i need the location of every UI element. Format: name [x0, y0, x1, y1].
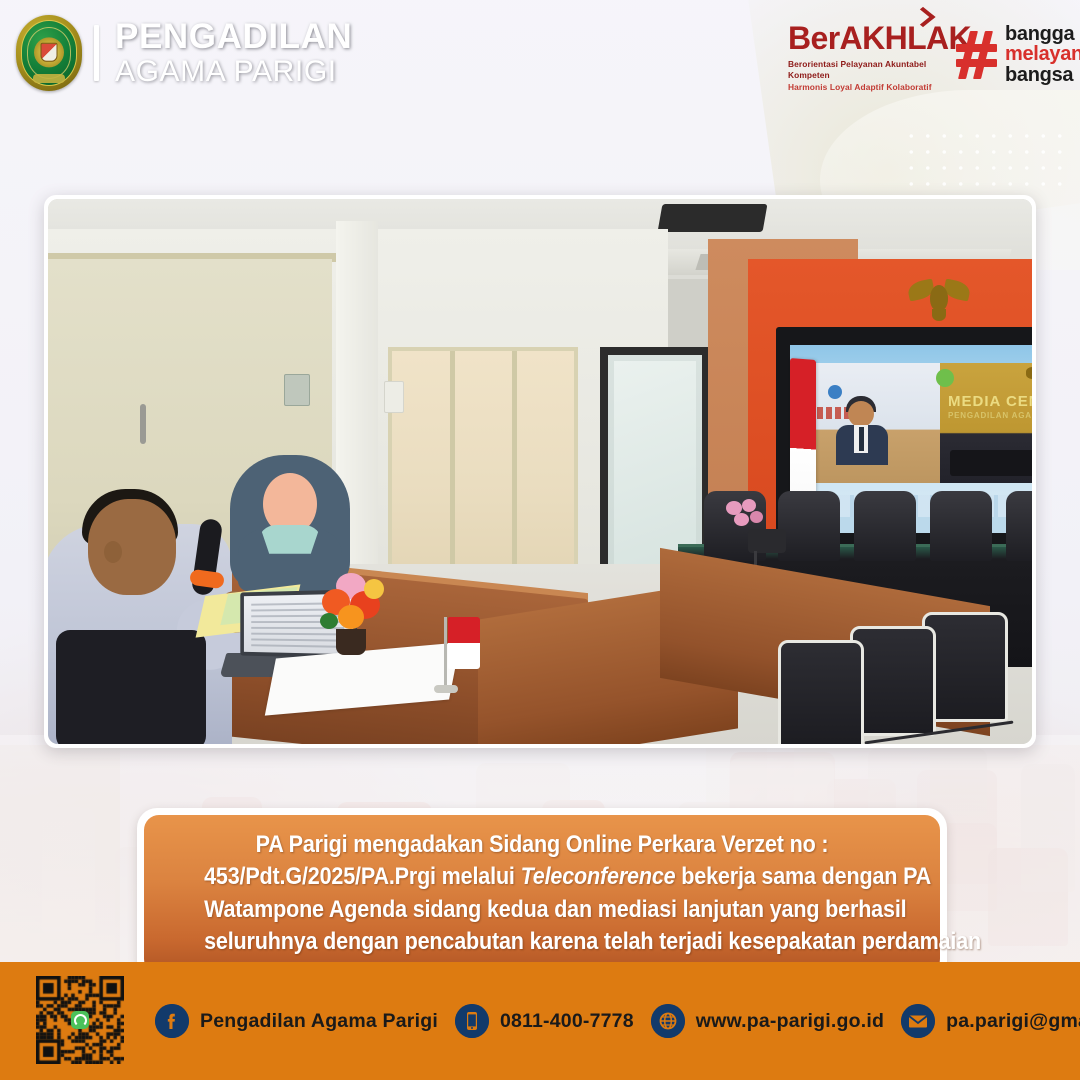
avatar	[230, 455, 350, 590]
camera	[748, 529, 786, 553]
brand-titles: PENGADILAN AGAMA PARIGI	[115, 19, 352, 87]
court-seal-icon	[16, 15, 82, 91]
qr-code-icon[interactable]	[36, 976, 124, 1064]
footer-contacts: Pengadilan Agama Parigi 0811-400-7778 ww…	[155, 962, 1080, 1080]
caption-line-3: Watampone Agenda sidang kedua dan medias…	[204, 894, 880, 926]
footer-item-facebook[interactable]: Pengadilan Agama Parigi	[155, 1004, 438, 1038]
berakhlak-tagline-line1: Berorientasi Pelayanan Akuntabel Kompete…	[788, 59, 948, 82]
berakhlak-wordmark: BerAKHLAK	[788, 20, 971, 56]
header: PENGADILAN AGAMA PARIGI BerAKHLAK Berori…	[0, 0, 1080, 112]
caption-line-4: seluruhnya dengan pencabutan karena tela…	[204, 926, 880, 958]
photo-frame: MEDIA CENTER PENGADILAN AGAMA PAR	[44, 195, 1036, 748]
bangga-line-1: bangga	[1005, 24, 1080, 44]
garuda-emblem-icon	[908, 277, 970, 319]
footer-website-text: www.pa-parigi.go.id	[696, 1010, 884, 1033]
dot-grid-decoration	[903, 128, 1063, 194]
bangga-melayani-bangsa-logo: bangga melayani bangsa	[955, 24, 1080, 85]
footer-item-email[interactable]: pa.parigi@gmail.com	[901, 1004, 1080, 1038]
audience-chairs	[772, 564, 1032, 744]
page-subtitle: AGAMA PARIGI	[115, 57, 352, 87]
brand-divider	[94, 25, 99, 81]
footer-facebook-text: Pengadilan Agama Parigi	[200, 1010, 438, 1033]
footer-email-text: pa.parigi@gmail.com	[946, 1010, 1080, 1033]
brand-lockup: PENGADILAN AGAMA PARIGI	[16, 15, 352, 91]
desk-flag	[438, 617, 480, 687]
caption-line-2b: bekerja sama dengan PA	[675, 863, 931, 890]
caption-line-2: 453/Pdt.G/2025/PA.Prgi melalui Teleconfe…	[204, 861, 880, 893]
screen-title: MEDIA CENTER	[948, 393, 1032, 410]
hashtag-icon	[955, 31, 998, 79]
footer-item-website[interactable]: www.pa-parigi.go.id	[651, 1004, 884, 1038]
facebook-icon	[155, 1004, 189, 1038]
page-title: PENGADILAN	[115, 19, 352, 54]
event-photo: MEDIA CENTER PENGADILAN AGAMA PAR	[48, 199, 1032, 744]
screen-subtitle: PENGADILAN AGAMA PAR	[948, 411, 1032, 420]
caption-box: PA Parigi mengadakan Sidang Online Perka…	[137, 808, 947, 981]
flower-bouquet	[320, 571, 390, 641]
window	[388, 347, 578, 597]
chevron-up-right-icon	[915, 9, 932, 26]
bangga-line-3: bangsa	[1005, 65, 1080, 85]
berakhlak-tagline-line2: Harmonis Loyal Adaptif Kolaboratif	[788, 82, 948, 93]
caption-line-1: PA Parigi mengadakan Sidang Online Perka…	[204, 829, 880, 861]
bangga-line-2: melayani	[1005, 44, 1080, 64]
poster-root: PENGADILAN AGAMA PARIGI BerAKHLAK Berori…	[0, 0, 1080, 1080]
footer-item-phone[interactable]: 0811-400-7778	[455, 1004, 634, 1038]
whatsapp-icon	[71, 1011, 89, 1029]
footer: Pengadilan Agama Parigi 0811-400-7778 ww…	[0, 962, 1080, 1080]
globe-icon	[651, 1004, 685, 1038]
phone-icon	[455, 1004, 489, 1038]
caption-line-2a: 453/Pdt.G/2025/PA.Prgi melalui	[204, 863, 520, 890]
footer-phone-text: 0811-400-7778	[500, 1010, 634, 1033]
caption-teleconference: Teleconference	[521, 863, 676, 890]
berakhlak-logo: BerAKHLAK Berorientasi Pelayanan Akuntab…	[788, 22, 948, 93]
email-icon	[901, 1004, 935, 1038]
